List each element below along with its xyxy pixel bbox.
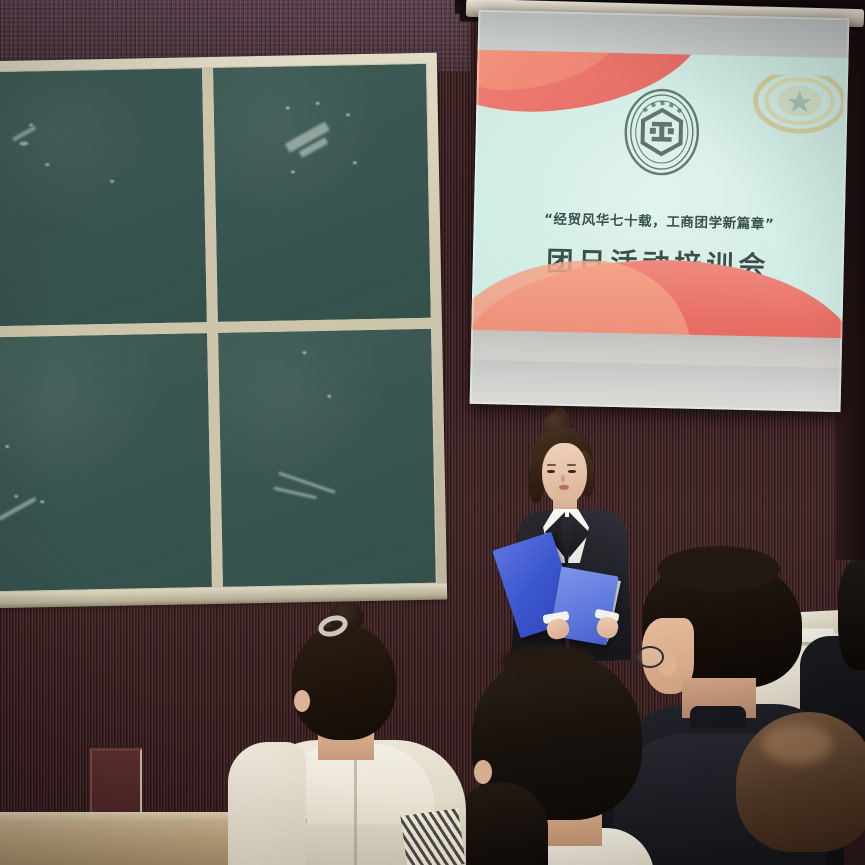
blackboard-pane xyxy=(217,328,437,588)
projection-screen: “经贸风华七十载，工商团学新篇章” 团日活动培训会 xyxy=(470,10,850,412)
blackboard-pane xyxy=(211,63,431,323)
presentation-slide: “经贸风华七十载，工商团学新篇章” 团日活动培训会 xyxy=(470,50,848,376)
screen-bottom-band xyxy=(470,360,842,412)
presenter-face xyxy=(542,443,587,505)
blackboard-pane xyxy=(0,67,207,327)
blackboard-pane xyxy=(0,332,212,592)
presenter-nose xyxy=(561,475,565,482)
photo-scene: “经贸风华七十载，工商团学新篇章” 团日活动培训会 xyxy=(0,0,865,865)
blackboard-frame xyxy=(0,53,447,607)
blackboard xyxy=(0,53,447,607)
presenter-mouth xyxy=(559,485,569,490)
audience-member xyxy=(736,712,865,865)
audience-hair xyxy=(292,624,396,740)
slide-subtitle: “经贸风华七十载，工商团学新篇章” xyxy=(474,206,845,234)
university-seal xyxy=(619,85,703,179)
communist-youth-league-emblem xyxy=(746,74,844,154)
audience-member xyxy=(228,742,298,865)
blackboard-panes xyxy=(0,63,437,592)
